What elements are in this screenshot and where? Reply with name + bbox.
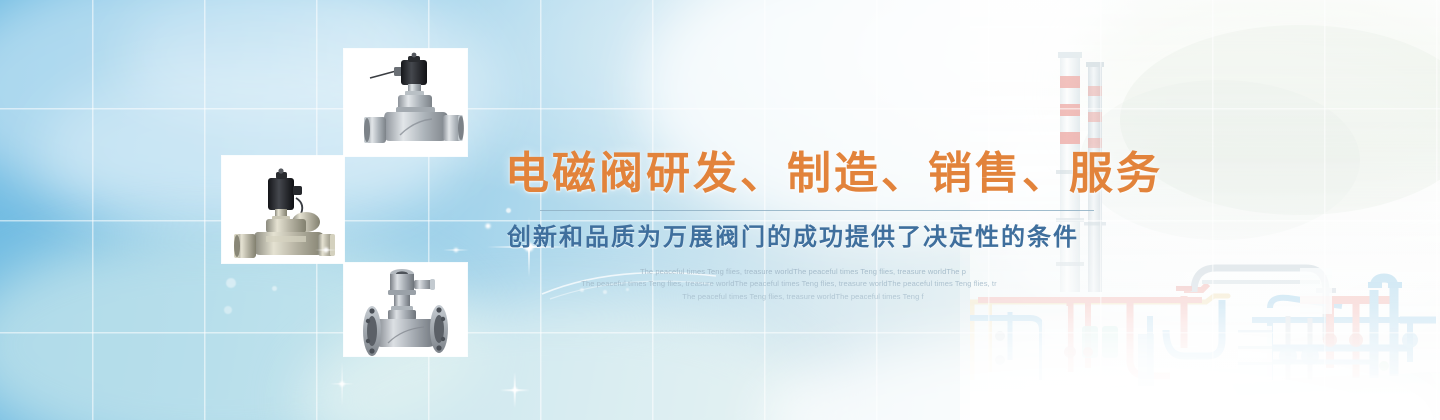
solenoid-valve-threaded-angle-icon <box>344 49 467 156</box>
hero-banner: 电磁阀研发、制造、销售、服务 创新和品质为万展阀门的成功提供了决定性的条件 Th… <box>0 0 1440 420</box>
product-thumbnail-solenoid-valve-flanged[interactable] <box>344 263 467 356</box>
fineprint-block: The peaceful times Teng flies, treasure … <box>505 266 1101 303</box>
page-title: 电磁阀研发、制造、销售、服务 <box>505 148 1105 200</box>
product-thumbnail-solenoid-valve-threaded-angle[interactable] <box>344 49 467 156</box>
title-divider <box>540 210 1094 211</box>
page-subtitle: 创新和品质为万展阀门的成功提供了决定性的条件 <box>507 217 1105 252</box>
fineprint-line: The peaceful times Teng flies, treasure … <box>505 266 1101 278</box>
sparkle <box>312 354 372 414</box>
sparkle <box>468 206 508 246</box>
fineprint-line: The peaceful times Teng flies, treasure … <box>505 291 1101 303</box>
sparkle <box>490 365 540 415</box>
fineprint-line: The peaceful times Teng flies, treasure … <box>477 278 1101 290</box>
bokeh-dot <box>226 278 236 288</box>
solenoid-valve-flanged-icon <box>344 263 467 356</box>
bokeh-dot <box>224 306 232 314</box>
solenoid-valve-threaded-brass-icon <box>222 156 344 263</box>
banner-text-block: 电磁阀研发、制造、销售、服务 创新和品质为万展阀门的成功提供了决定性的条件 Th… <box>505 148 1105 303</box>
product-thumbnail-solenoid-valve-threaded-brass[interactable] <box>222 156 344 263</box>
bokeh-dot <box>272 286 277 291</box>
